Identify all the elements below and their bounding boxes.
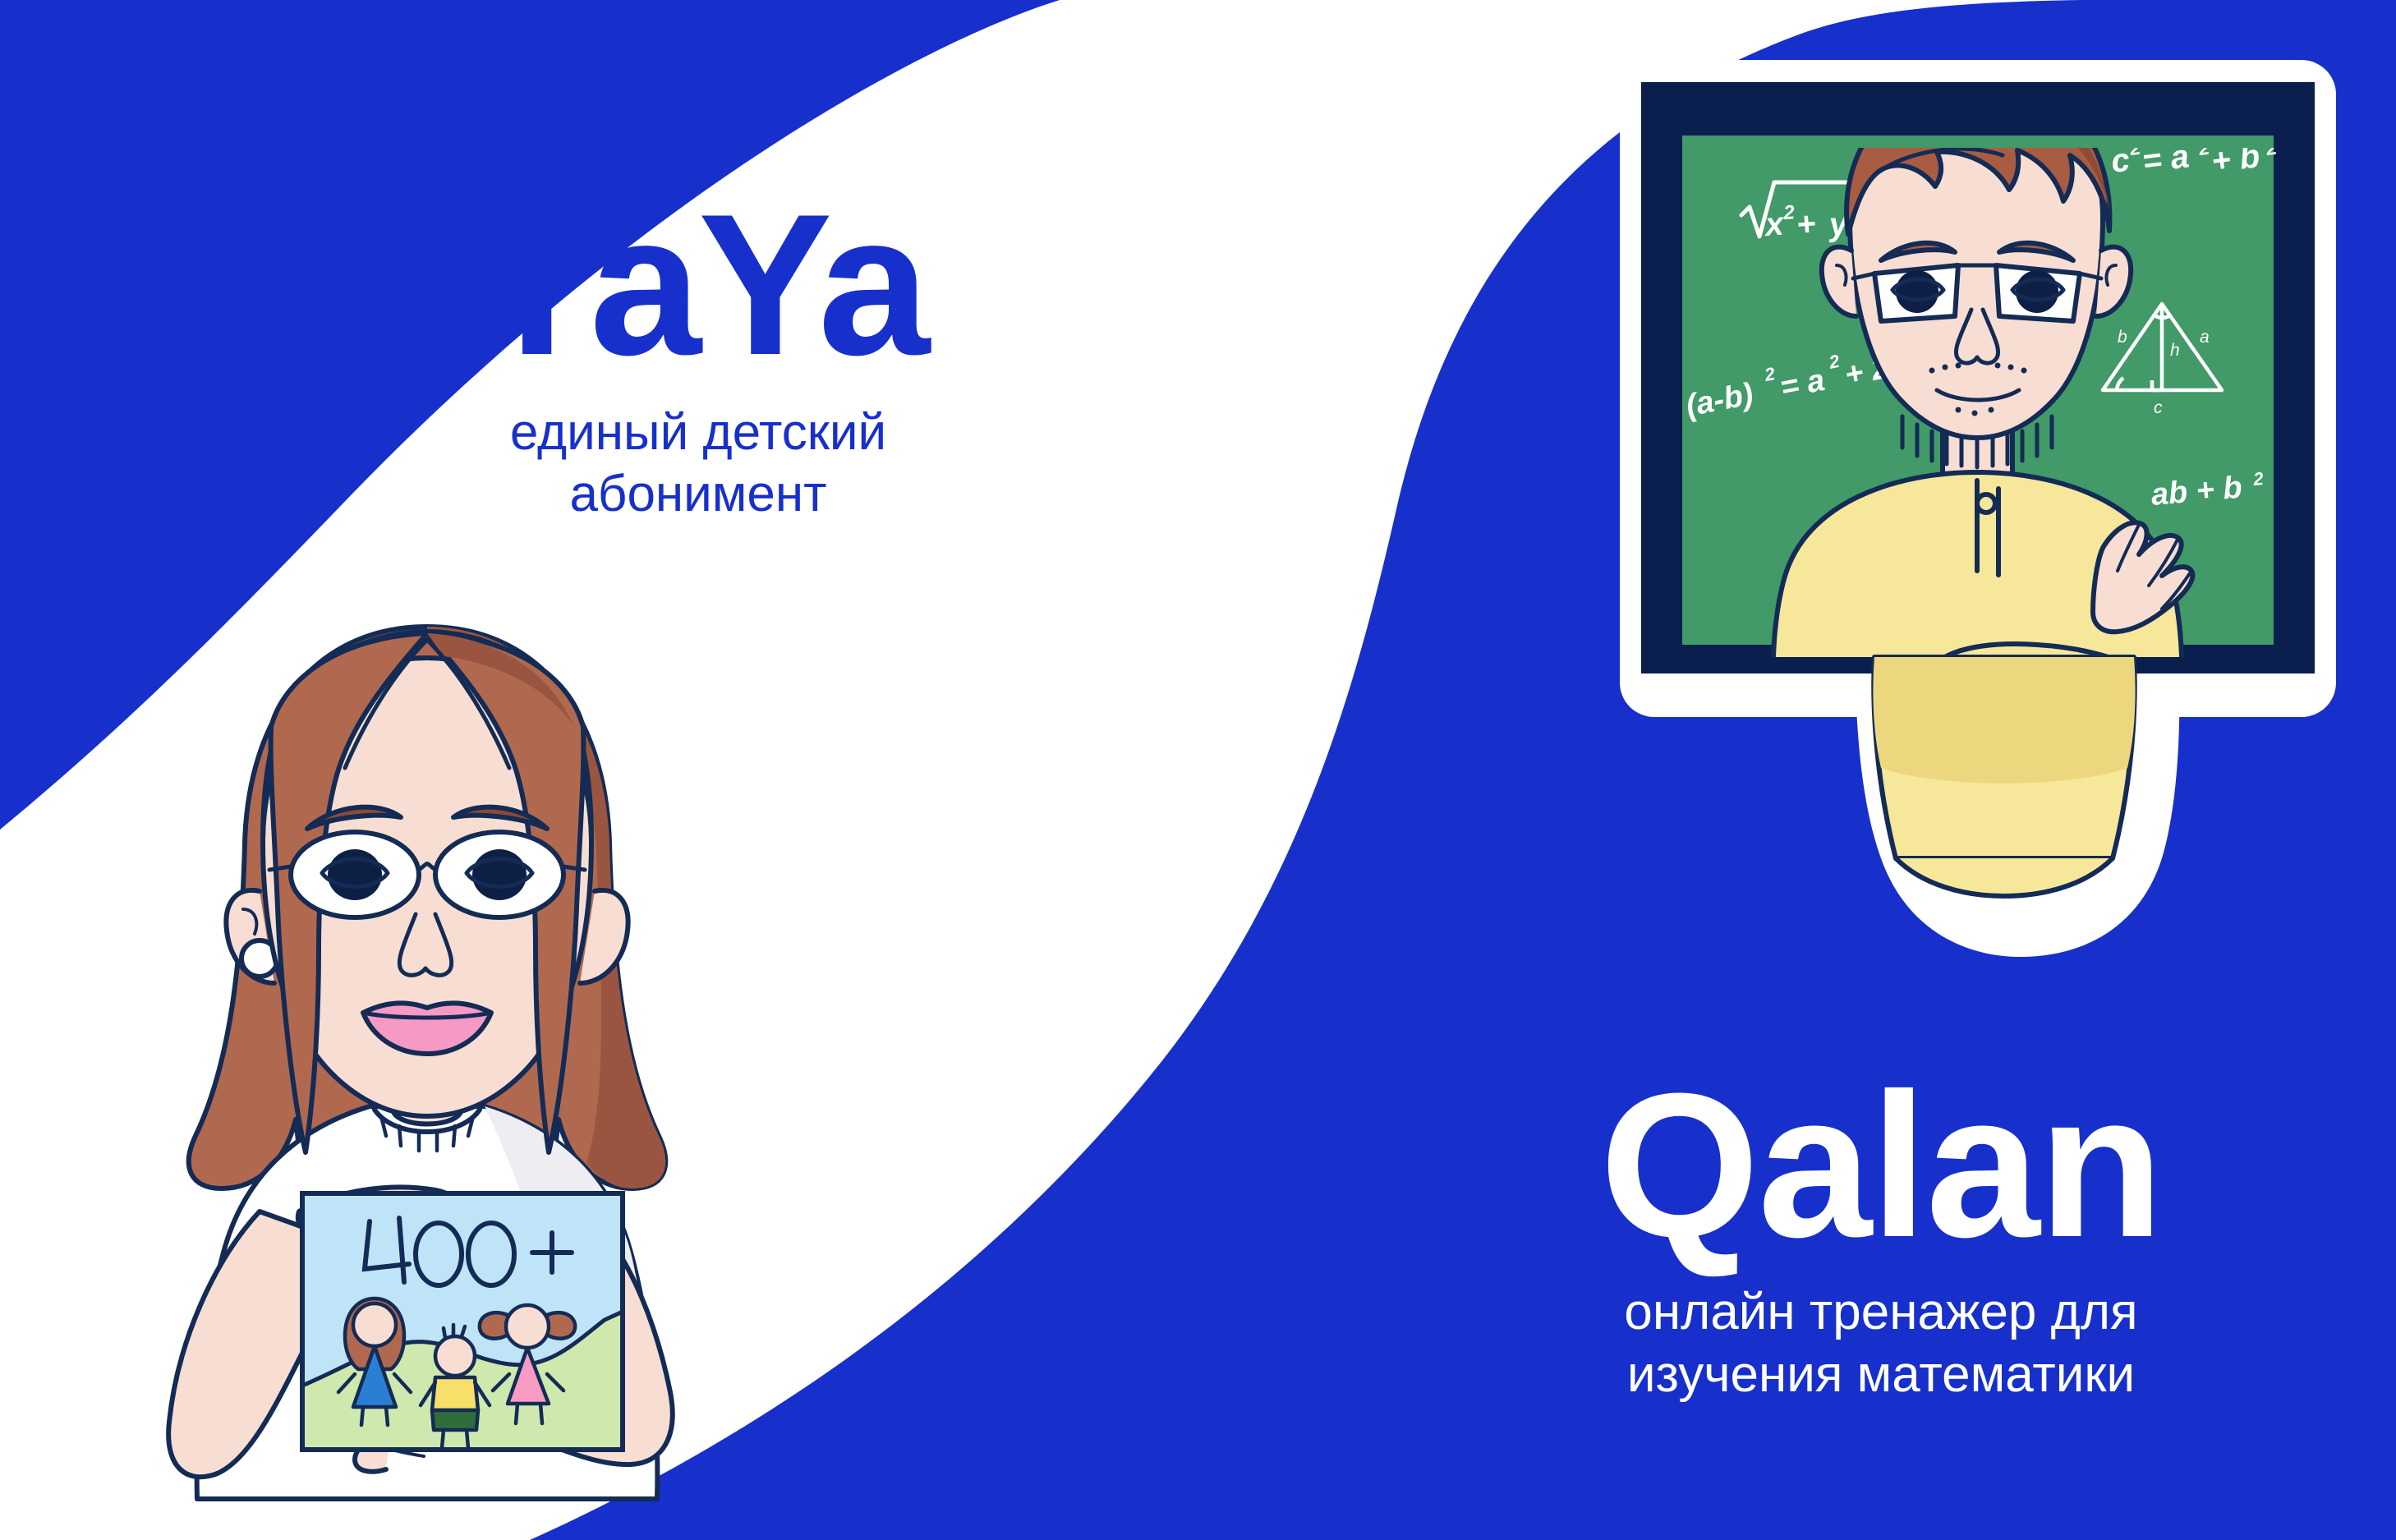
qalan-tagline: онлайн тренажер для изучения математики — [1446, 1281, 2316, 1408]
yaya-logo: YaYa — [345, 189, 1051, 380]
svg-text:2: 2 — [1782, 201, 1796, 224]
svg-text:b: b — [2118, 328, 2127, 347]
teacher-illustration: x 2 + y 2 c 2 = a 2 + b 2 (a-b) 2 = a 2 — [1610, 45, 2382, 990]
yaya-tagline: единый детский абонимент — [345, 402, 1051, 526]
right-brand-block: Qalan онлайн тренажер для изучения матем… — [1446, 1068, 2316, 1407]
girl-illustration — [99, 604, 756, 1540]
svg-text:x: x — [1763, 205, 1787, 243]
yaya-tagline-line1: единый детский — [345, 402, 1051, 464]
svg-text:c: c — [2154, 398, 2163, 417]
qalan-logo: Qalan — [1446, 1068, 2316, 1263]
left-brand-block: YaYa единый детский абонимент — [345, 189, 1051, 526]
svg-text:a: a — [2200, 328, 2210, 347]
child-drawing — [302, 1193, 623, 1450]
qalan-tagline-line1: онлайн тренажер для — [1446, 1281, 2316, 1345]
poster-canvas: YaYa единый детский абонимент Qalan онла… — [0, 0, 2396, 1540]
svg-text:+: + — [1796, 205, 1817, 243]
qalan-tagline-line2: изучения математики — [1446, 1344, 2316, 1407]
teacher-lower-body — [1873, 657, 2135, 896]
svg-text:h: h — [2170, 341, 2180, 360]
yaya-tagline-line2: абонимент — [345, 463, 1051, 526]
